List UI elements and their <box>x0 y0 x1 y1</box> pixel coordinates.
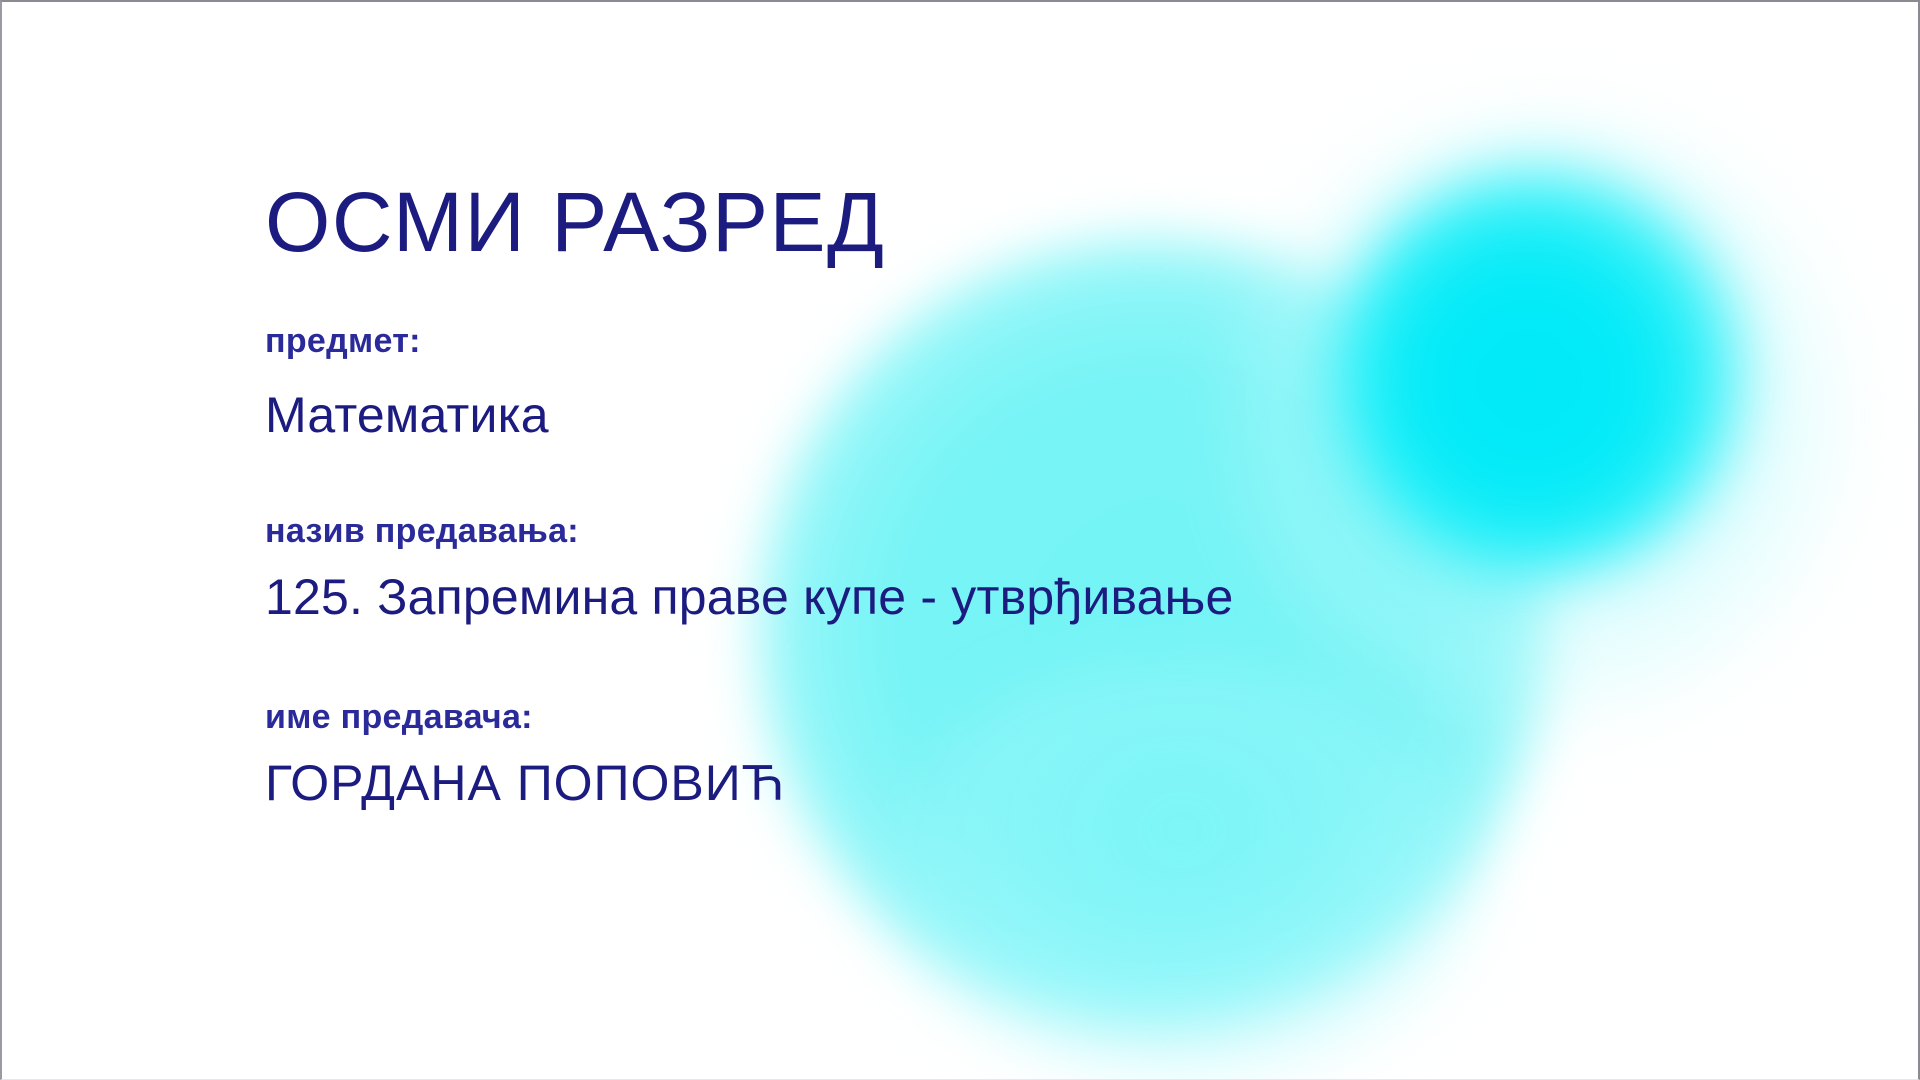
slide-text-block: ОСМИ РАЗРЕД предмет: Математика назив пр… <box>265 2 1565 1079</box>
lecture-title-label: назив предавања: <box>265 512 579 551</box>
lecture-title-value: 125. Запремина праве купе - утврђивање <box>265 568 1234 626</box>
teacher-name-value: ГОРДАНА ПОПОВИЋ <box>265 754 785 812</box>
teacher-name-label: име предавача: <box>265 698 533 737</box>
page-title: ОСМИ РАЗРЕД <box>265 174 885 271</box>
slide-canvas: ОСМИ РАЗРЕД предмет: Математика назив пр… <box>0 0 1920 1080</box>
subject-value: Математика <box>265 386 549 444</box>
subject-label: предмет: <box>265 322 421 361</box>
